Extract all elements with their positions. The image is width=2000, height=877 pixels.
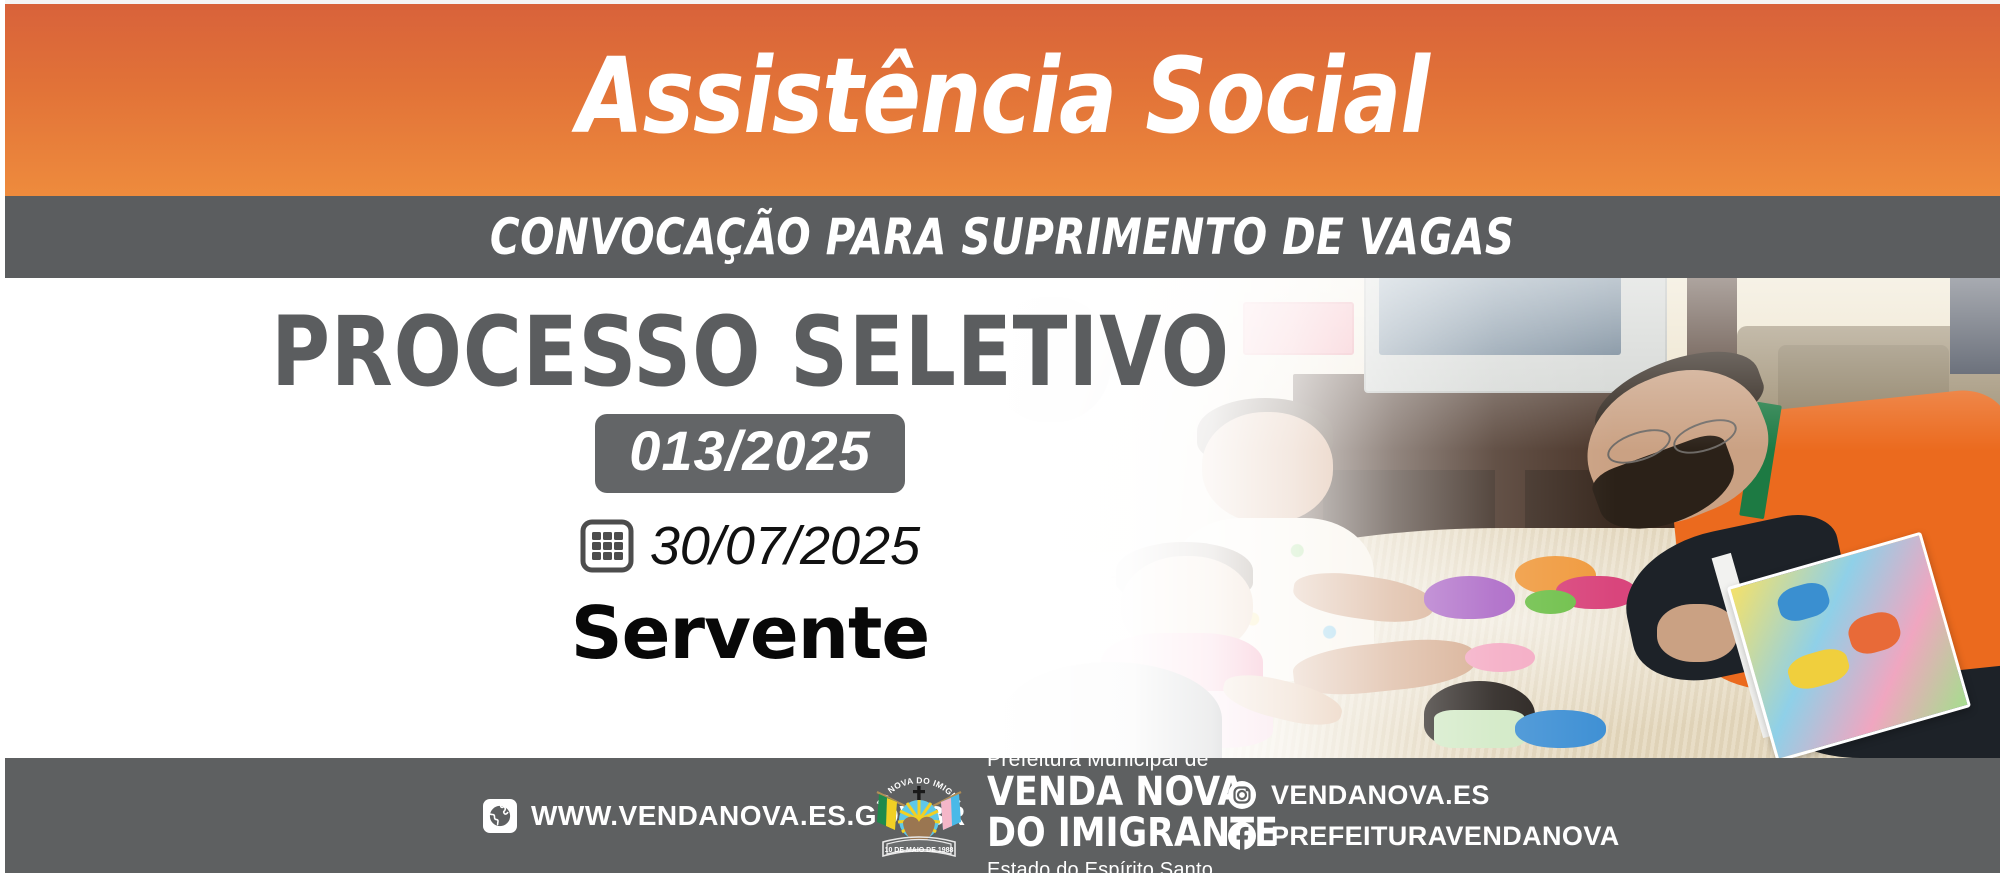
subtitle-text: CONVOCAÇÃO PARA SUPRIMENTO DE VAGAS [490,208,1515,266]
social-facebook[interactable]: PREFEITURAVENDANOVA [1227,821,1620,852]
job-role: Servente [571,597,929,669]
date-row: 30/07/2025 [580,515,920,577]
announcement-stack: PROCESSO SELETIVO 013/2025 [5,278,1495,758]
social-instagram-label: VENDANOVA.ES [1271,780,1490,811]
globe-icon [483,799,517,833]
process-number-badge: 013/2025 [595,414,905,493]
body-area: PROCESSO SELETIVO 013/2025 [5,278,2000,758]
poster-canvas: Assistência Social CONVOCAÇÃO PARA SUPRI… [0,0,2000,877]
social-facebook-label: PREFEITURAVENDANOVA [1271,821,1620,852]
social-instagram[interactable]: VENDANOVA.ES [1227,780,1620,811]
instagram-icon [1227,780,1257,810]
bottom-edge [0,873,2000,877]
subtitle-band: CONVOCAÇÃO PARA SUPRIMENTO DE VAGAS [5,196,2000,278]
banner-title: Assistência Social [577,44,1429,156]
svg-text:10 DE MAIO DE 1988: 10 DE MAIO DE 1988 [885,847,954,854]
logo-line-estado: Estado do Espírito Santo [987,854,1287,873]
footer-social: VENDANOVA.ES PREFEITURAVENDANOVA [1227,780,1620,852]
calendar-icon [580,519,634,573]
left-edge [0,0,5,877]
footer-bar: WWW.VENDANOVA.ES.GOV.BR VENDA NOVA DO IM… [5,758,2000,873]
page-title: PROCESSO SELETIVO [271,304,1230,400]
event-date: 30/07/2025 [650,515,920,577]
footer-logo: VENDA NOVA DO IMIGRANTE [867,758,1287,873]
facebook-icon [1227,821,1257,851]
top-edge [0,0,2000,4]
coat-of-arms-icon: VENDA NOVA DO IMIGRANTE [867,764,971,868]
orange-banner: Assistência Social [5,4,2000,196]
